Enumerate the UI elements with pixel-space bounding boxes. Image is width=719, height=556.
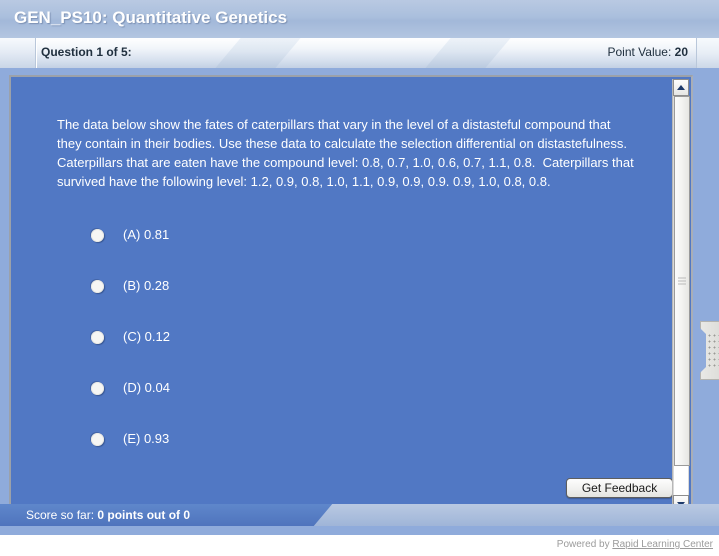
- question-bar-left-cap: [0, 38, 37, 68]
- rapid-learning-center-link[interactable]: Rapid Learning Center: [612, 539, 713, 550]
- radio-button-icon[interactable]: [91, 382, 104, 395]
- point-value-label: Point Value:: [607, 45, 671, 59]
- get-feedback-button[interactable]: Get Feedback: [566, 478, 673, 498]
- score-bar: Score so far: 0 points out of 0: [0, 504, 719, 526]
- answer-option-label: (A) 0.81: [123, 227, 169, 243]
- panel-resize-grip[interactable]: [700, 321, 719, 380]
- scroll-up-button[interactable]: [673, 79, 689, 96]
- answer-option-label: (D) 0.04: [123, 380, 170, 396]
- answer-option-label: (B) 0.28: [123, 278, 169, 294]
- score-label: Score so far:: [26, 508, 97, 522]
- title-bar: GEN_PS10: Quantitative Genetics: [0, 0, 719, 38]
- grip-lines-icon: [678, 278, 686, 285]
- grip-dots-icon: [708, 334, 719, 369]
- answer-options-list: (A) 0.81 (B) 0.28 (C) 0.12 (D) 0.04 (E) …: [91, 227, 591, 482]
- point-value-number: 20: [675, 45, 688, 59]
- answer-option-label: (E) 0.93: [123, 431, 169, 447]
- point-value: Point Value: 20: [607, 45, 688, 59]
- scrollbar-track[interactable]: [673, 96, 689, 495]
- score-status: Score so far: 0 points out of 0: [26, 508, 190, 522]
- radio-button-icon[interactable]: [91, 433, 104, 446]
- answer-option-c[interactable]: (C) 0.12: [91, 329, 591, 380]
- vertical-scrollbar[interactable]: [672, 79, 689, 512]
- radio-button-icon[interactable]: [91, 331, 104, 344]
- score-value: 0 points out of 0: [97, 508, 190, 522]
- answer-option-d[interactable]: (D) 0.04: [91, 380, 591, 431]
- question-panel: The data below show the fates of caterpi…: [9, 75, 693, 512]
- answer-option-b[interactable]: (B) 0.28: [91, 278, 591, 329]
- content-frame: The data below show the fates of caterpi…: [0, 68, 719, 535]
- powered-by-text: Powered by Rapid Learning Center: [557, 539, 713, 550]
- score-bar-wrapper: Score so far: 0 points out of 0: [0, 504, 719, 526]
- quiz-application: GEN_PS10: Quantitative Genetics Question…: [0, 0, 719, 556]
- answer-option-e[interactable]: (E) 0.93: [91, 431, 591, 482]
- question-bar-slant-2: [425, 38, 510, 68]
- answer-option-label: (C) 0.12: [123, 329, 170, 345]
- footer: Powered by Rapid Learning Center: [0, 535, 719, 556]
- radio-button-icon[interactable]: [91, 229, 104, 242]
- question-text: The data below show the fates of caterpi…: [57, 115, 637, 191]
- question-counter: Question 1 of 5:: [41, 45, 132, 59]
- answer-option-a[interactable]: (A) 0.81: [91, 227, 591, 278]
- radio-button-icon[interactable]: [91, 280, 104, 293]
- question-bar-right-cap: [696, 38, 719, 68]
- triangle-up-icon: [677, 85, 685, 90]
- powered-by-prefix: Powered by: [557, 539, 613, 550]
- bottom-blue-strip: [0, 526, 719, 535]
- question-bar-slant-1: [215, 38, 300, 68]
- question-info-bar: Question 1 of 5: Point Value: 20: [0, 38, 719, 68]
- page-title: GEN_PS10: Quantitative Genetics: [14, 8, 287, 28]
- scrollbar-thumb[interactable]: [674, 96, 690, 466]
